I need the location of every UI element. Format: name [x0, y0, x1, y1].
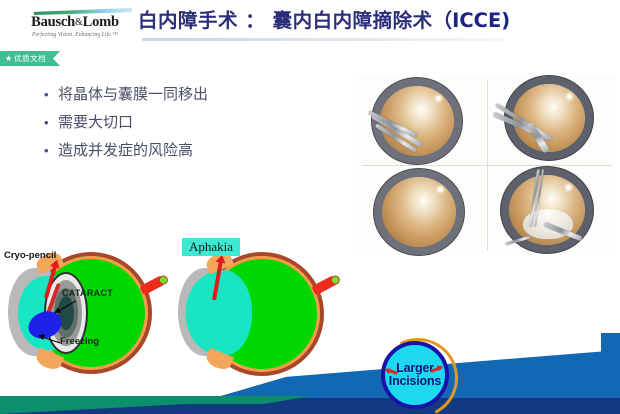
logo-word-bausch: Bausch — [31, 14, 75, 30]
star-icon: ★ — [5, 54, 12, 63]
page-title-abbrev: （ICCE) — [433, 9, 511, 32]
banner-blue-edge — [601, 333, 620, 363]
bullet-marker-icon: • — [44, 140, 58, 161]
bullet-marker-icon: • — [44, 112, 58, 133]
quality-doc-badge-label: 优质文档 — [14, 54, 46, 63]
incisions-line1: Larger — [396, 362, 434, 376]
list-item: • 将晶体与囊膜一同移出 — [44, 84, 344, 106]
page-title-chinese: 白内障手术 ： 囊内白内障摘除术 — [138, 9, 433, 32]
quality-doc-badge: ★优质文档 — [0, 51, 60, 66]
logo-tagline: Perfecting Vision. Enhancing Life.™ — [18, 32, 132, 38]
aqueous-chamber-shape — [186, 270, 252, 356]
bausch-lomb-logo: Bausch&Lomb Perfecting Vision. Enhancing… — [16, 8, 134, 42]
slide-canvas: Bausch&Lomb Perfecting Vision. Enhancing… — [0, 0, 620, 414]
logo-word-lomb: Lomb — [83, 14, 119, 30]
label-freezing: Freezing — [60, 336, 99, 347]
eye-diagram-aphakia: Aphakia — [172, 236, 352, 396]
page-title: 白内障手术 ： 囊内白内障摘除术（ICCE) — [138, 6, 616, 36]
bullet-text: 造成并发症的风险高 — [58, 140, 193, 161]
larger-incisions-callout: Larger Incisions — [381, 341, 449, 409]
bullet-marker-icon: • — [44, 84, 58, 105]
bullet-text: 需要大切口 — [58, 112, 133, 133]
label-cryo-pencil: Cryo-pencil — [4, 250, 56, 261]
bullet-text: 将晶体与囊膜一同移出 — [58, 84, 208, 105]
incisions-line2: Incisions — [389, 375, 441, 389]
logo-wordmark: Bausch&Lomb — [16, 14, 134, 31]
logo-ampersand: & — [75, 17, 83, 28]
title-divider — [142, 38, 504, 41]
label-aphakia: Aphakia — [182, 238, 240, 256]
eye-diagram-cryoextraction: Cryo-pencil CATARACT Freezing — [0, 236, 180, 396]
surgical-photo-grid — [358, 76, 616, 254]
list-item: • 需要大切口 — [44, 112, 344, 134]
photo-eye-plain — [358, 165, 487, 254]
bullet-list: • 将晶体与囊膜一同移出 • 需要大切口 • 造成并发症的风险高 — [44, 84, 344, 168]
optic-nerve-icon — [311, 274, 339, 295]
photo-eye-lens-delivery — [487, 165, 616, 254]
label-cataract: CATARACT — [62, 288, 113, 298]
photo-eye-forceps-lower-left — [358, 76, 487, 165]
photo-eye-cryoprobe-upper — [487, 76, 616, 165]
optic-nerve-icon — [139, 274, 167, 295]
list-item: • 造成并发症的风险高 — [44, 140, 344, 162]
